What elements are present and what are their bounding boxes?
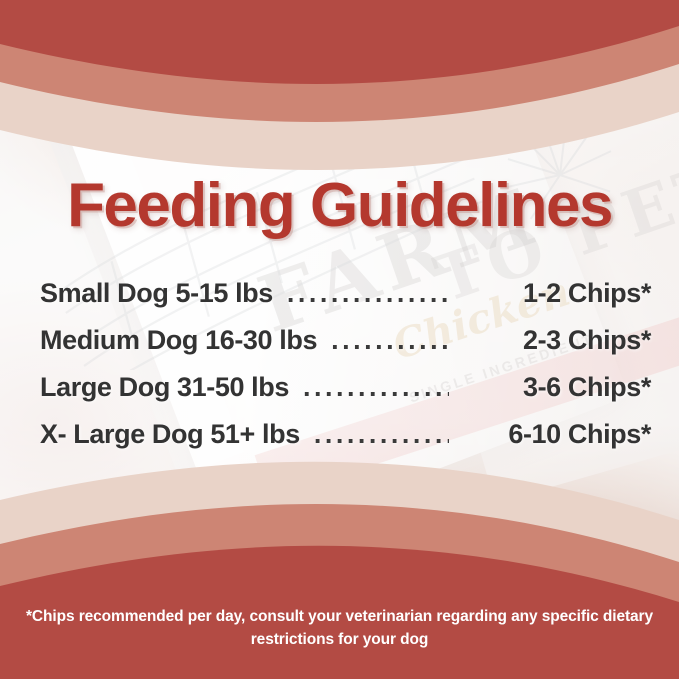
guideline-label: Medium Dog 16-30 lbs xyxy=(40,325,317,356)
guideline-row-xlarge-dog: X- Large Dog 51+ lbs ...................… xyxy=(40,419,651,466)
dot-leader: .................................... xyxy=(303,374,449,401)
dot-leader: .................................... xyxy=(314,421,449,448)
guideline-amount: 1-2 Chips* xyxy=(461,278,651,309)
feeding-guidelines-infographic: FARM TO PET Chicken SINGLE INGREDIENT NE… xyxy=(0,0,679,679)
dot-leader: .................................... xyxy=(331,327,449,354)
content-area: Feeding Guidelines Small Dog 5-15 lbs ..… xyxy=(0,0,679,679)
guideline-label: Large Dog 31-50 lbs xyxy=(40,372,289,403)
feeding-guidelines-table: Small Dog 5-15 lbs .....................… xyxy=(40,278,651,466)
guideline-row-large-dog: Large Dog 31-50 lbs ....................… xyxy=(40,372,651,419)
page-title: Feeding Guidelines xyxy=(0,170,679,241)
guideline-amount: 2-3 Chips* xyxy=(461,325,651,356)
guideline-row-medium-dog: Medium Dog 16-30 lbs ...................… xyxy=(40,325,651,372)
guideline-amount: 3-6 Chips* xyxy=(461,372,651,403)
disclaimer-text: *Chips recommended per day, consult your… xyxy=(0,606,679,651)
dot-leader: .................................... xyxy=(287,280,449,307)
guideline-amount: 6-10 Chips* xyxy=(461,419,651,450)
guideline-label: X- Large Dog 51+ lbs xyxy=(40,419,300,450)
guideline-row-small-dog: Small Dog 5-15 lbs .....................… xyxy=(40,278,651,325)
guideline-label: Small Dog 5-15 lbs xyxy=(40,278,273,309)
